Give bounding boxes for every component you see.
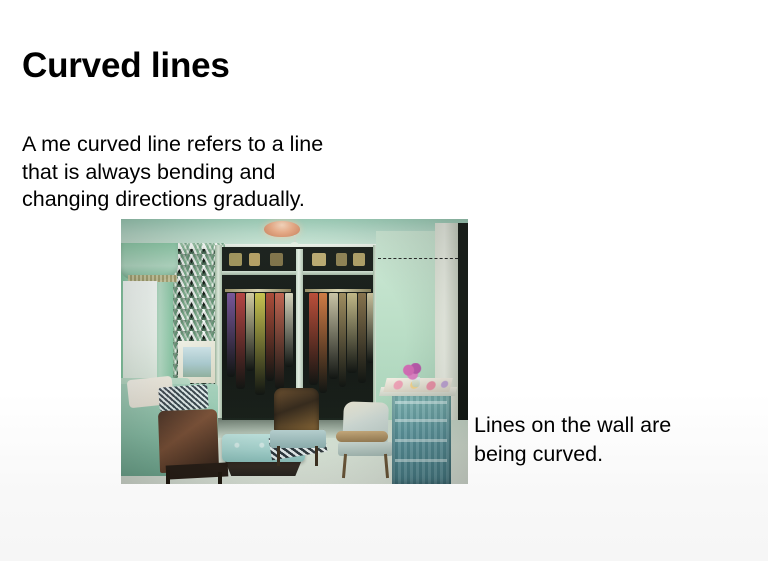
pink-flowers bbox=[402, 363, 424, 381]
closet-shelf-item bbox=[312, 253, 327, 266]
clothes-rod-left bbox=[225, 289, 291, 292]
mirrored-dresser bbox=[392, 392, 451, 484]
antique-chair-back bbox=[274, 388, 319, 432]
dresser-drawer-line bbox=[395, 439, 447, 442]
ottoman-legs bbox=[225, 461, 301, 476]
hanging-garment bbox=[309, 293, 318, 385]
hanging-garment bbox=[339, 293, 347, 387]
closet-shelf-item bbox=[249, 253, 260, 266]
body-line-3: changing directions gradually. bbox=[22, 186, 442, 214]
page-title: Curved lines bbox=[22, 45, 230, 87]
photo-scene bbox=[121, 219, 468, 484]
slide-canvas: Curved lines A me curved line refers to … bbox=[0, 0, 768, 561]
window bbox=[123, 281, 158, 386]
dresser-drawer-line bbox=[395, 401, 447, 404]
body-paragraph: A me curved line refers to a line that i… bbox=[22, 131, 442, 214]
framed-picture bbox=[178, 341, 216, 383]
closet-shelf-item bbox=[270, 253, 282, 266]
hanging-garment bbox=[236, 293, 245, 389]
hanging-garment bbox=[285, 293, 293, 367]
antique-chair-leg-left bbox=[277, 446, 280, 466]
hanging-garment bbox=[329, 293, 338, 379]
closet-shelf-item bbox=[229, 253, 243, 266]
patterned-pillow bbox=[158, 384, 208, 411]
body-line-1: A me curved line refers to a line bbox=[22, 131, 442, 159]
closet-shelf-item bbox=[353, 253, 365, 266]
photo-caption: Lines on the wall are being curved. bbox=[474, 411, 744, 469]
hanging-garment bbox=[227, 293, 235, 377]
dressing-room-photo bbox=[121, 219, 468, 484]
hanging-garment bbox=[275, 293, 284, 389]
antique-chair-leg-right bbox=[315, 446, 318, 466]
hanging-garment bbox=[319, 293, 327, 393]
hanging-garment bbox=[347, 293, 357, 373]
dotted-annotation-line bbox=[378, 258, 458, 259]
body-line-2: that is always bending and bbox=[22, 159, 442, 187]
dark-wood-chair-leg-left bbox=[166, 470, 170, 484]
dresser-drawer-line bbox=[395, 459, 447, 462]
hanging-garment bbox=[246, 293, 254, 371]
hanging-garment bbox=[358, 293, 366, 383]
caption-line-2: being curved. bbox=[474, 440, 744, 469]
dresser-drawer-line bbox=[395, 419, 447, 422]
closet-shelf-item bbox=[336, 253, 346, 266]
blue-armchair-arm bbox=[336, 431, 388, 442]
dark-wood-chair-leg-right bbox=[218, 472, 222, 484]
hanging-garment bbox=[266, 293, 274, 381]
clothes-rod-right bbox=[305, 289, 371, 292]
hanging-garment bbox=[255, 293, 265, 395]
caption-line-1: Lines on the wall are bbox=[474, 411, 744, 440]
framed-picture-art bbox=[183, 347, 211, 377]
